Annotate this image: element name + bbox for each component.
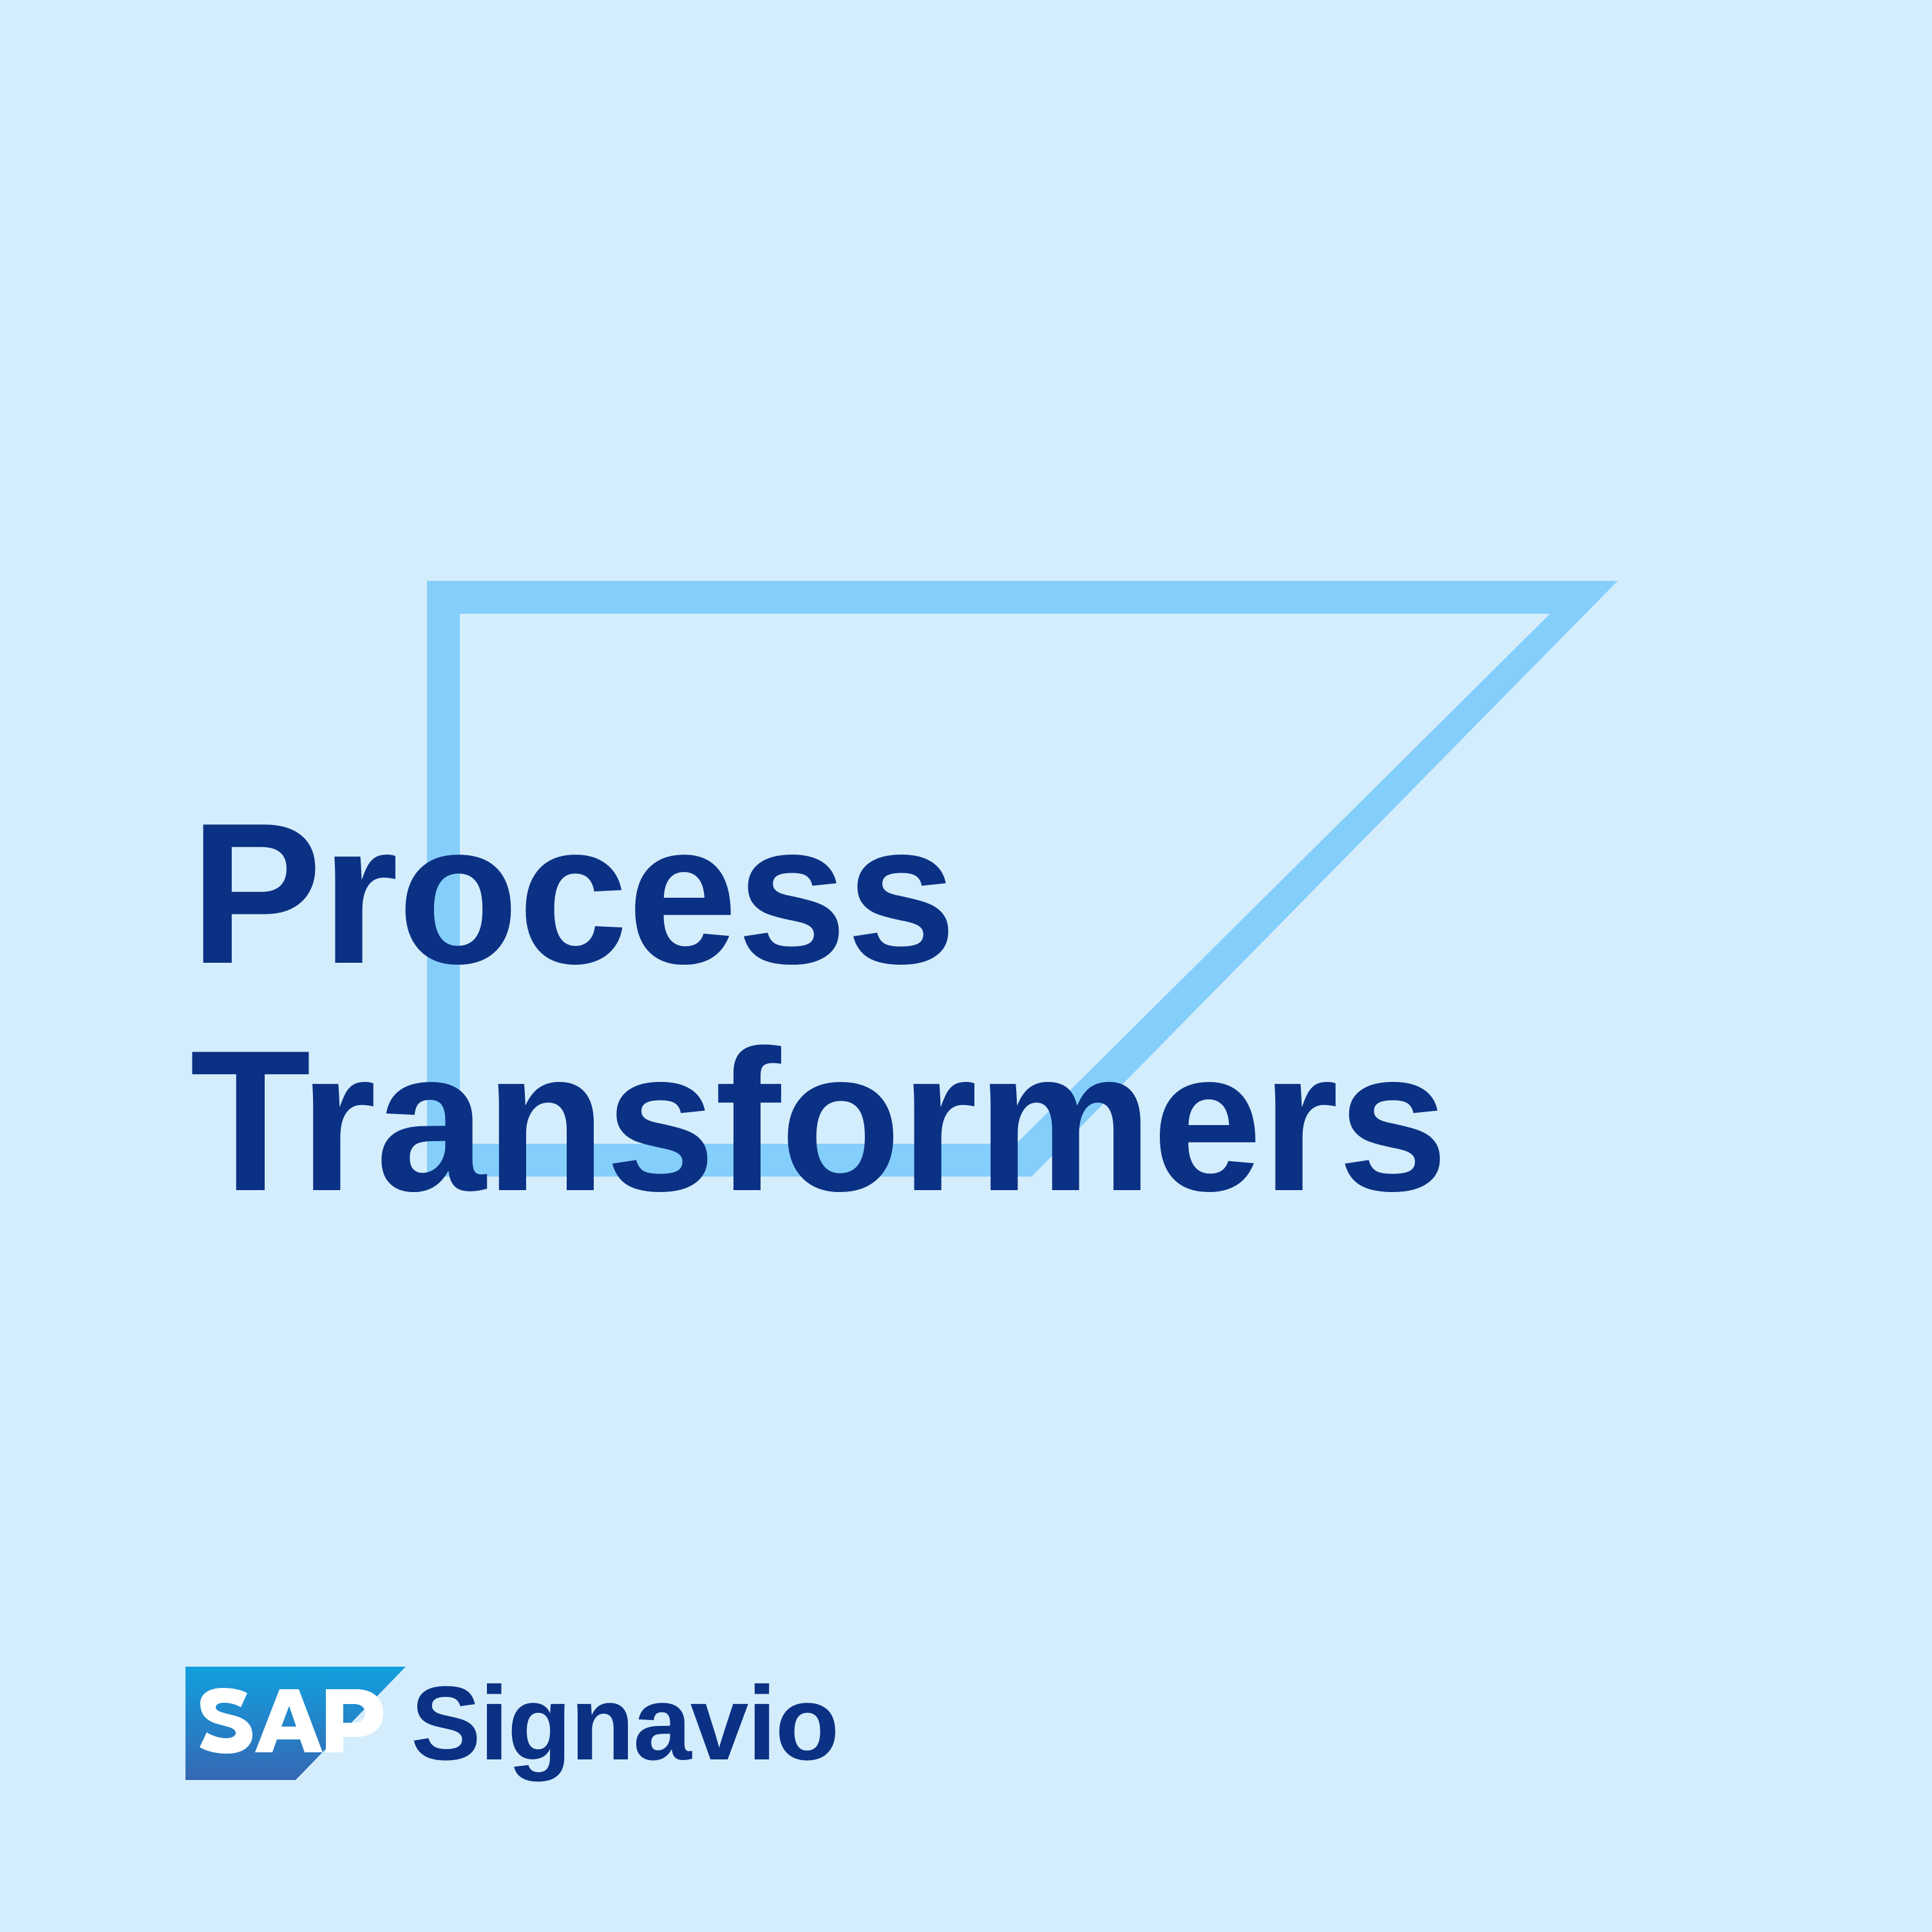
sap-logo-mark [185, 1667, 406, 1780]
sap-signavio-logo-lockup: Signavio [185, 1667, 838, 1780]
sap-logo-icon [185, 1667, 406, 1780]
podcast-cover-artwork: Process Transformers [0, 0, 1932, 1932]
cover-title: Process Transformers [190, 781, 1736, 1235]
cover-title-line-2: Transformers [190, 1008, 1712, 1235]
signavio-wordmark: Signavio [411, 1671, 838, 1776]
cover-title-line-1: Process [190, 781, 1712, 1008]
